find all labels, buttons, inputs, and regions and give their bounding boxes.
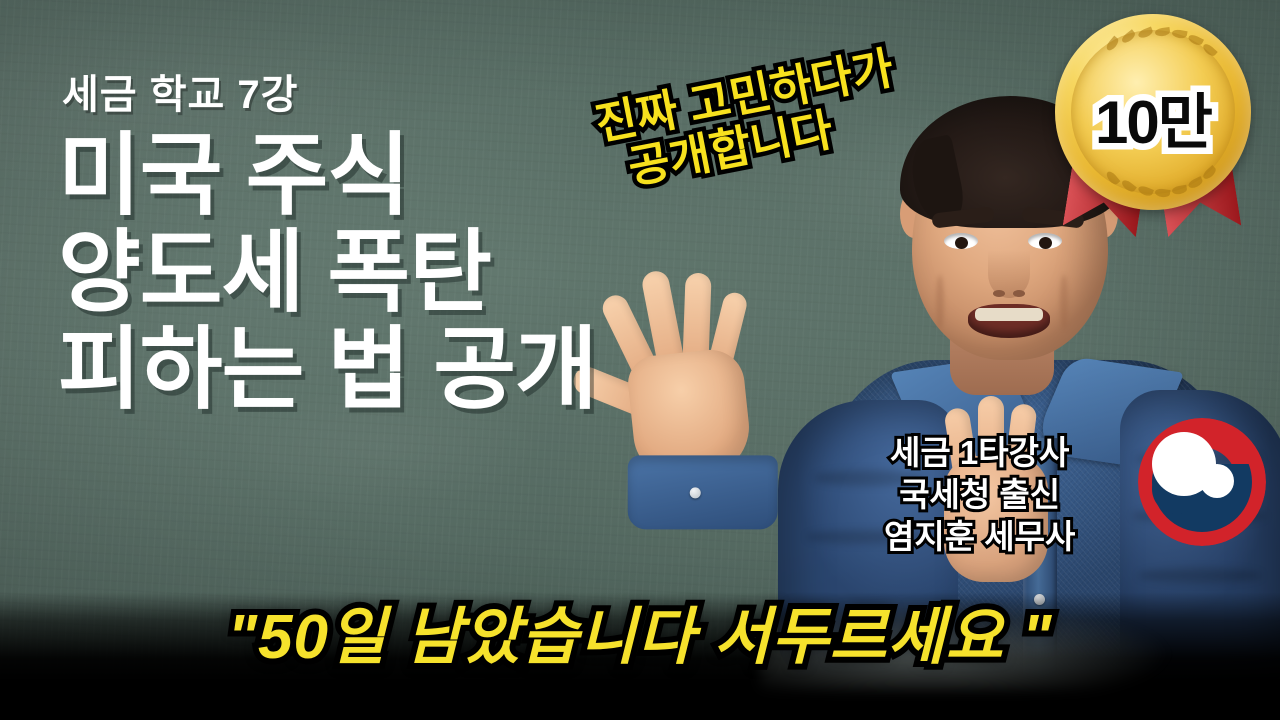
headline-line-3: 피하는 법 공개 bbox=[58, 320, 597, 421]
thumbnail-canvas: 세금 학교 7강 미국 주식 양도세 폭탄 피하는 법 공개 진짜 고민하다가 … bbox=[0, 0, 1280, 720]
presenter-credentials: 세금 1타강사 국세청 출신 염지훈 세무사 bbox=[884, 432, 1075, 559]
subscriber-count-label: 10만 bbox=[1043, 74, 1263, 161]
kicker-text: 세금 학교 7강 bbox=[62, 62, 298, 120]
credit-line-3: 염지훈 세무사 bbox=[884, 516, 1075, 558]
headline-line-2: 양도세 폭탄 bbox=[58, 223, 597, 324]
subscriber-medal-badge: 10만 bbox=[1047, 8, 1259, 234]
credit-line-2: 국세청 출신 bbox=[884, 474, 1075, 516]
taegeuk-white-lobe bbox=[1200, 464, 1234, 498]
page-title: 미국 주식 양도세 폭탄 피하는 법 공개 bbox=[58, 126, 597, 416]
headline-line-1: 미국 주식 bbox=[58, 126, 597, 227]
korean-government-taegeuk-icon bbox=[1138, 418, 1266, 546]
credit-line-1: 세금 1타강사 bbox=[884, 432, 1075, 474]
bottom-caption: "50일 남았습니다 서두르세요 " bbox=[0, 586, 1280, 676]
